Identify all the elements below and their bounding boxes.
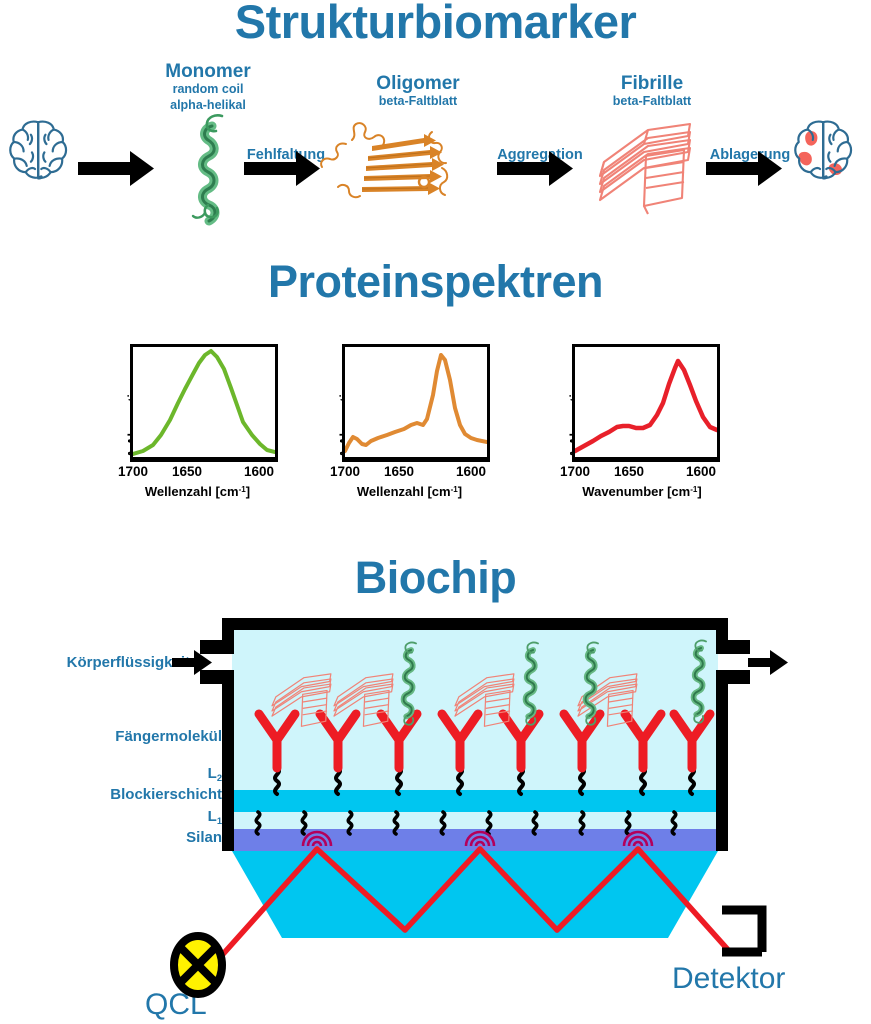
stage-name-oligomer: Oligomer (328, 74, 508, 94)
spectrum-1-xlabel-unit: [cm (215, 484, 238, 499)
stage-name-monomer: Monomer (118, 62, 298, 82)
spectrum-chart-oligomer: Δ Absorption 1700 1650 1600 Wellenzahl [… (322, 340, 497, 500)
page-title-strukturbiomarker: Strukturbiomarker (0, 0, 871, 49)
spectrum-2-xtick-1650: 1650 (384, 464, 414, 479)
spectrum-1-xaxis (130, 459, 278, 462)
spectrum-1-xtick-1700: 1700 (118, 464, 148, 479)
arrow-right-icon-2 (244, 151, 320, 186)
spectrum-2-curve (345, 347, 487, 457)
spectrum-3-plot-frame (572, 344, 720, 460)
page-title-proteinspektren: Proteinspektren (0, 256, 871, 308)
spectrum-3-curve (575, 347, 717, 457)
spectrum-2-xtick-1700: 1700 (330, 464, 360, 479)
oligomer-beta-sheet-icon (321, 123, 447, 197)
stage-label-monomer: Monomer random coil alpha-helikal (118, 62, 298, 113)
spectrum-1-curve (133, 347, 275, 457)
biochip-outlet-arrow-icon (748, 650, 788, 675)
spectrum-1-xlabel-exp: -1 (239, 485, 246, 494)
spectrum-1-xtick-1600: 1600 (244, 464, 274, 479)
fibril-icon (600, 124, 690, 214)
arrow-right-icon-1 (78, 151, 154, 186)
spectrum-3-xtick-1700: 1700 (560, 464, 590, 479)
spectrum-3-xtick-1600: 1600 (686, 464, 716, 479)
spectrum-1-plot-frame (130, 344, 278, 460)
spectrum-2-xlabel: Wellenzahl [cm-1] (322, 484, 497, 499)
stage-sub-fibrille-1: beta-Faltblatt (562, 94, 742, 110)
stage-label-oligomer: Oligomer beta-Faltblatt (328, 74, 508, 110)
spectrum-2-xtick-1600: 1600 (456, 464, 486, 479)
stage-sub-monomer-1: random coil (118, 82, 298, 98)
spectrum-3-xlabel: Wavenumber [cm-1] (552, 484, 732, 499)
spectrum-3-xlabel-exp: -1 (690, 485, 697, 494)
arrow-right-icon-3 (497, 151, 573, 186)
monomer-alpha-helix-icon (193, 115, 222, 221)
spectrum-1-xlabel-text: Wellenzahl (145, 484, 212, 499)
spectrum-2-xlabel-exp: -1 (451, 485, 458, 494)
spectrum-3-xtick-1650: 1650 (614, 464, 644, 479)
spectrum-1-xlabel: Wellenzahl [cm-1] (110, 484, 285, 499)
qcl-laser-icon[interactable] (174, 936, 222, 994)
spectrum-chart-monomer: Δ Absorption 1700 1650 1600 Wellenzahl [… (110, 340, 285, 500)
spectrum-2-xlabel-unit: [cm (427, 484, 450, 499)
page-title-biochip: Biochip (0, 552, 871, 604)
spectrum-chart-fibril: Δ Absorption 1700 1650 1600 Wavenumber [… (552, 340, 732, 500)
infographic-root: Strukturbiomarker Monomer random coil al… (0, 0, 871, 1024)
pathway-graphics (0, 110, 871, 230)
spectrum-2-xlabel-text: Wellenzahl (357, 484, 424, 499)
biochip-blocking-layer (232, 790, 718, 812)
spectrum-2-xaxis (342, 459, 490, 462)
stage-sub-oligomer-1: beta-Faltblatt (328, 94, 508, 110)
spectrum-3-xlabel-text: Wavenumber (582, 484, 663, 499)
biochip-diagram (0, 600, 871, 1024)
stage-name-fibrille: Fibrille (562, 74, 742, 94)
spectrum-3-xlabel-unit: [cm (667, 484, 690, 499)
arrow-right-icon-4 (706, 151, 782, 186)
stage-label-fibrille: Fibrille beta-Faltblatt (562, 74, 742, 110)
brain-healthy-icon (10, 122, 66, 179)
spectrum-2-plot-frame (342, 344, 490, 460)
spectrum-1-xtick-1650: 1650 (172, 464, 202, 479)
brain-plaques-icon (795, 122, 851, 179)
spectrum-3-xaxis (572, 459, 720, 462)
